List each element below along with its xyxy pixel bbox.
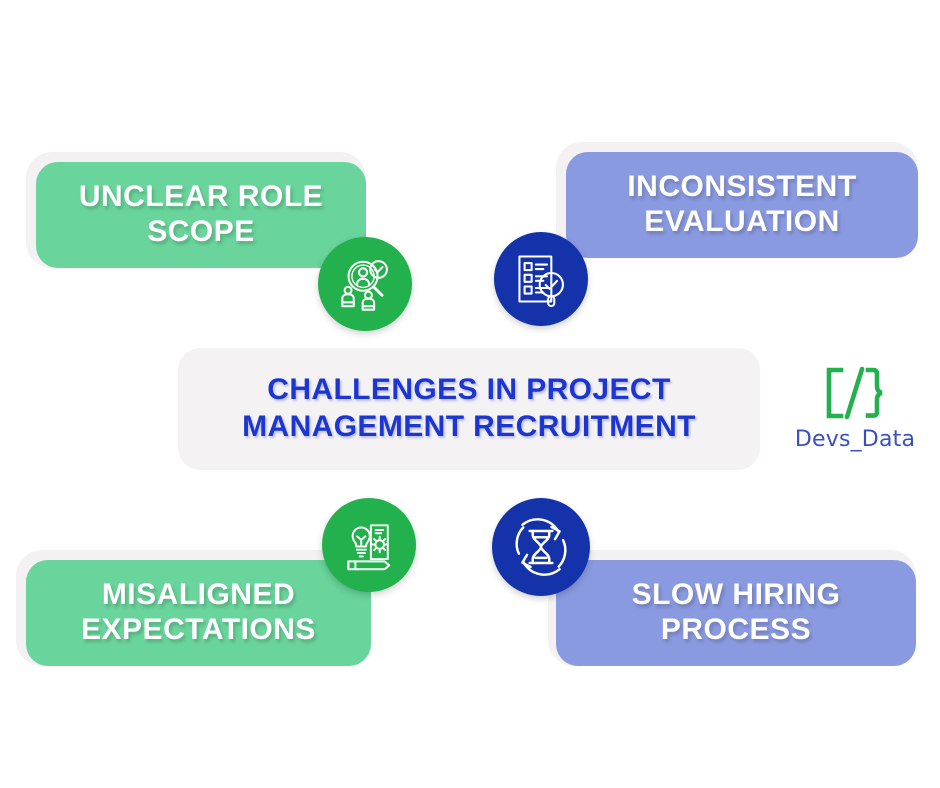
- brand-logo[interactable]: Devs_Data: [780, 366, 930, 466]
- badge-checklist-review[interactable]: [494, 232, 588, 326]
- idea-document-gear-icon: [339, 515, 399, 575]
- card-slow-hiring-process[interactable]: SLOW HIRING PROCESS: [556, 560, 916, 666]
- card-unclear-role-scope[interactable]: UNCLEAR ROLE SCOPE: [36, 162, 366, 268]
- hourglass-cycle-icon: [508, 514, 574, 580]
- card-label-misaligned-expectations: MISALIGNED EXPECTATIONS: [81, 578, 316, 648]
- card-label-inconsistent-evaluation: INCONSISTENT EVALUATION: [627, 170, 856, 240]
- badge-candidate-search[interactable]: [318, 237, 412, 331]
- badge-hourglass-cycle[interactable]: [492, 498, 590, 596]
- code-bracket-logo-icon: [816, 366, 894, 420]
- card-label-unclear-role-scope: UNCLEAR ROLE SCOPE: [79, 180, 323, 250]
- brand-name: Devs_Data: [795, 427, 915, 452]
- card-label-slow-hiring-process: SLOW HIRING PROCESS: [632, 578, 841, 648]
- card-inconsistent-evaluation[interactable]: INCONSISTENT EVALUATION: [566, 152, 918, 258]
- badge-idea-document-gear[interactable]: [322, 498, 416, 592]
- candidate-search-icon: [334, 253, 396, 315]
- card-misaligned-expectations[interactable]: MISALIGNED EXPECTATIONS: [26, 560, 371, 666]
- checklist-review-icon: [511, 249, 571, 309]
- page-title: CHALLENGES IN PROJECT MANAGEMENT RECRUIT…: [242, 372, 696, 445]
- center-title-plate: CHALLENGES IN PROJECT MANAGEMENT RECRUIT…: [178, 348, 760, 470]
- infographic-canvas: UNCLEAR ROLE SCOPE: [0, 0, 940, 788]
